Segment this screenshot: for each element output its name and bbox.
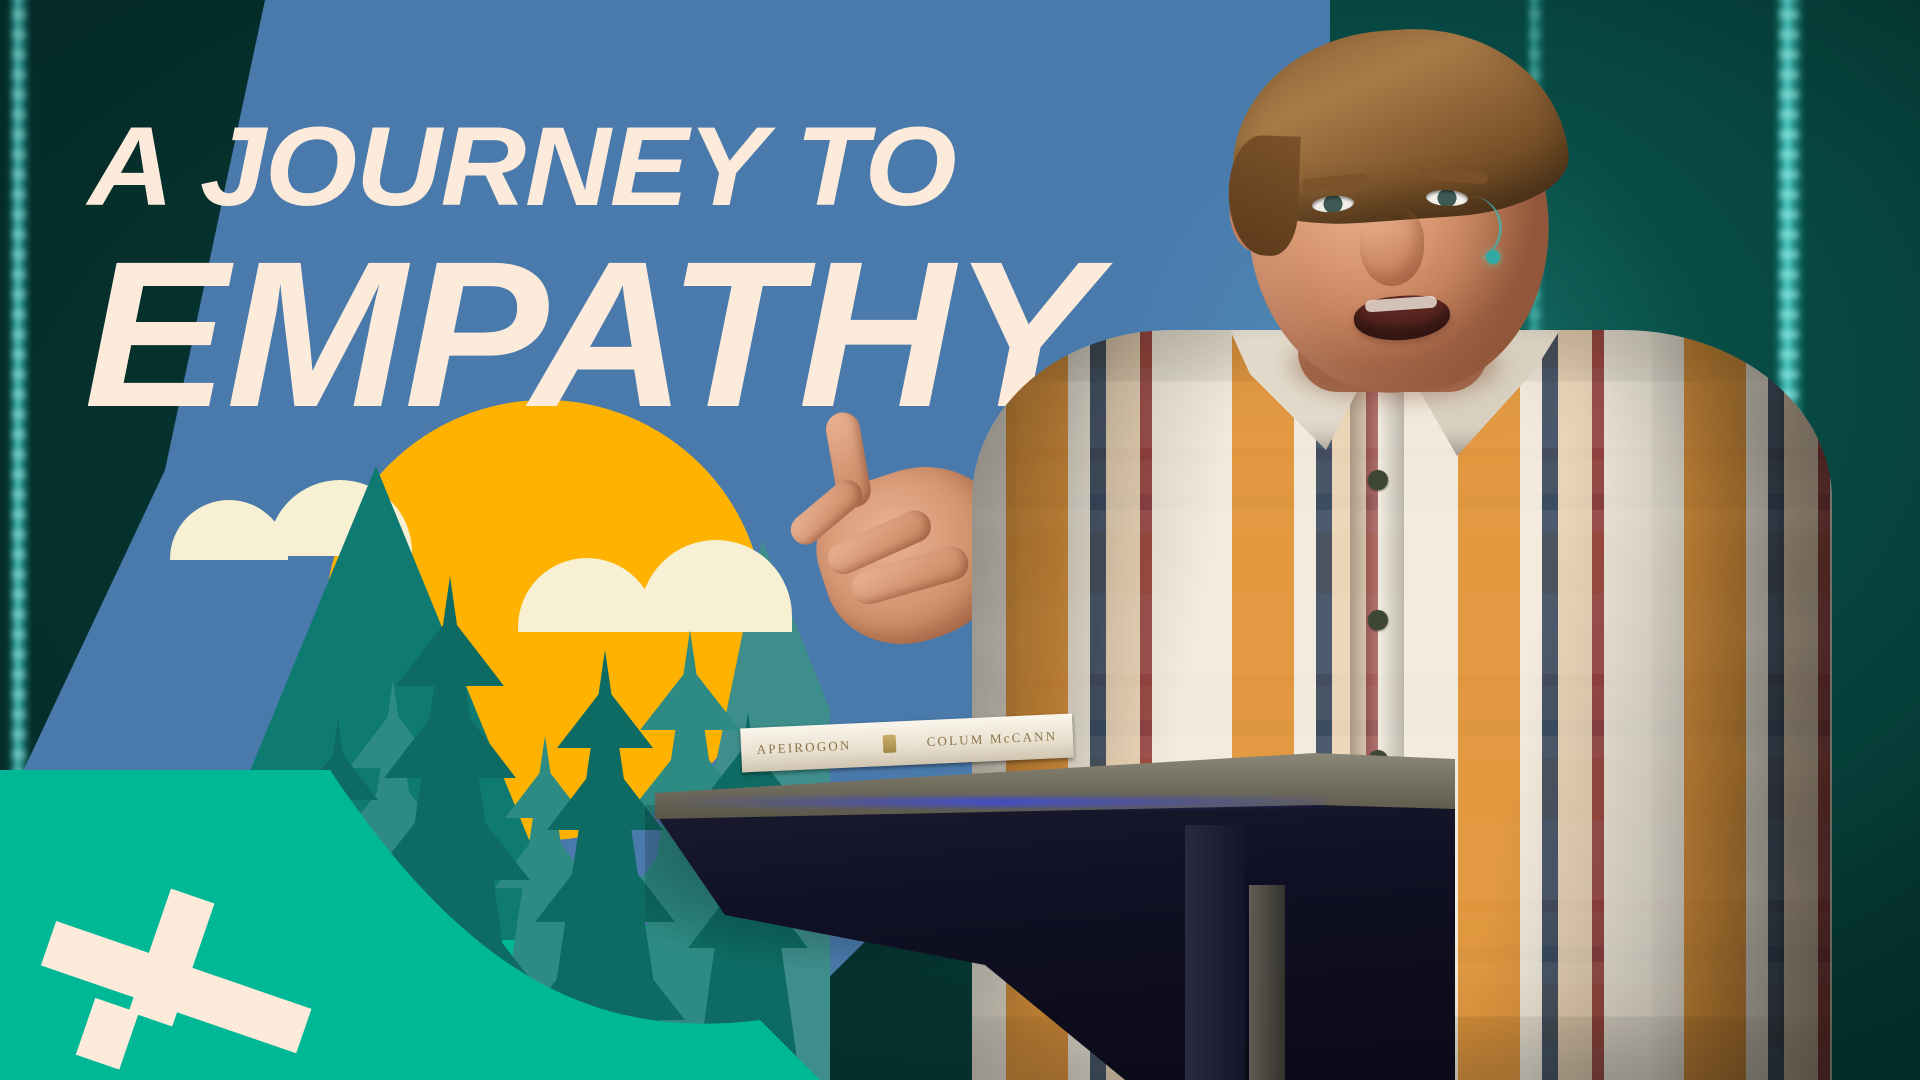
microphone-icon xyxy=(1486,250,1500,264)
book-title: APEIROGON xyxy=(756,738,852,758)
slide-canvas: A JOURNEY TO EMPATHY xyxy=(0,0,1920,1080)
shirt-button xyxy=(1368,610,1388,630)
publisher-colophon-icon xyxy=(882,735,896,754)
lectern: APEIROGON COLUM McCANN xyxy=(655,735,1455,1080)
book-author: COLUM McCANN xyxy=(926,728,1057,750)
lectern-edge-light xyxy=(665,797,1325,807)
lectern-post xyxy=(1185,825,1245,1080)
shirt-button xyxy=(1368,470,1388,490)
lectern-post-accent xyxy=(1249,885,1285,1080)
nose xyxy=(1360,208,1424,286)
